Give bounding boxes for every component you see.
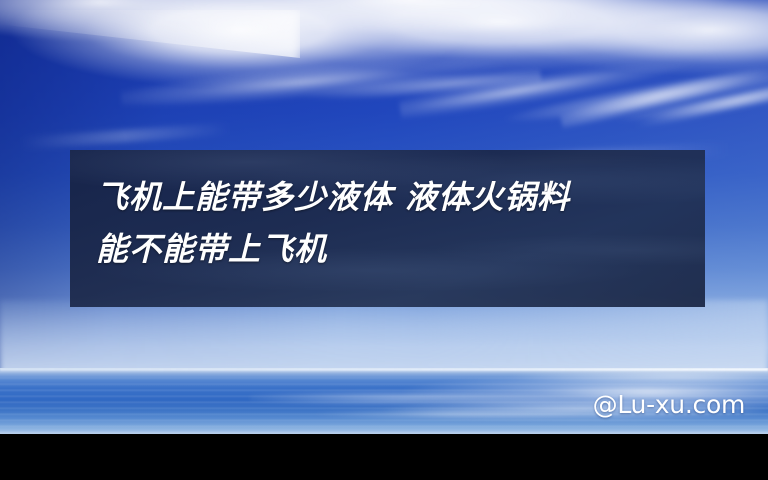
site-watermark: @Lu-xu.com <box>593 390 745 419</box>
headline-line-1: 飞机上能带多少液体 液体火锅料 <box>96 172 679 224</box>
banner-image: @Lu-xu.com 飞机上能带多少液体 液体火锅料 能不能带上飞机 <box>0 0 768 480</box>
headline-line-2: 能不能带上飞机 <box>96 224 679 276</box>
bottom-black-bar <box>0 434 768 480</box>
title-overlay-panel: 飞机上能带多少液体 液体火锅料 能不能带上飞机 <box>70 150 705 307</box>
